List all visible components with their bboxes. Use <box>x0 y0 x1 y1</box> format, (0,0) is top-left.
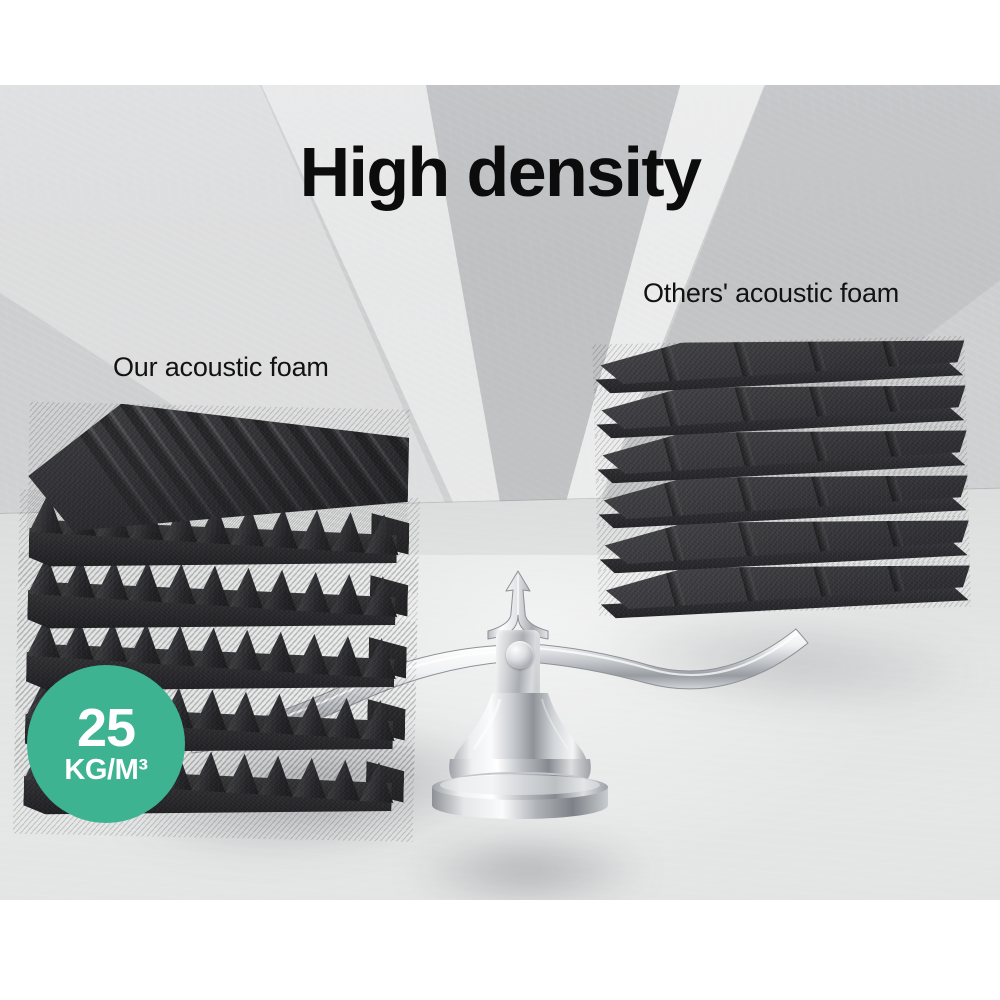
density-badge: 25 KG/M³ <box>27 665 185 823</box>
product-banner: High density Others' acoustic foam Our a… <box>0 0 1000 1000</box>
badge-value: 25 <box>77 703 135 755</box>
foam-ridge <box>330 402 410 538</box>
label-our-foam: Our acoustic foam <box>113 352 329 383</box>
foam-panel <box>592 336 965 391</box>
badge-unit: KG/M³ <box>64 756 147 785</box>
foam-groove <box>654 336 693 385</box>
foam-top-face <box>27 402 410 538</box>
scale-pedestal <box>416 693 624 821</box>
scale-pivot-boss <box>506 641 534 669</box>
foam-top-ridges <box>27 402 410 538</box>
page-title: High density <box>0 137 1000 207</box>
scale-base-shadow <box>405 835 650 900</box>
label-others-foam: Others' acoustic foam <box>643 278 899 309</box>
